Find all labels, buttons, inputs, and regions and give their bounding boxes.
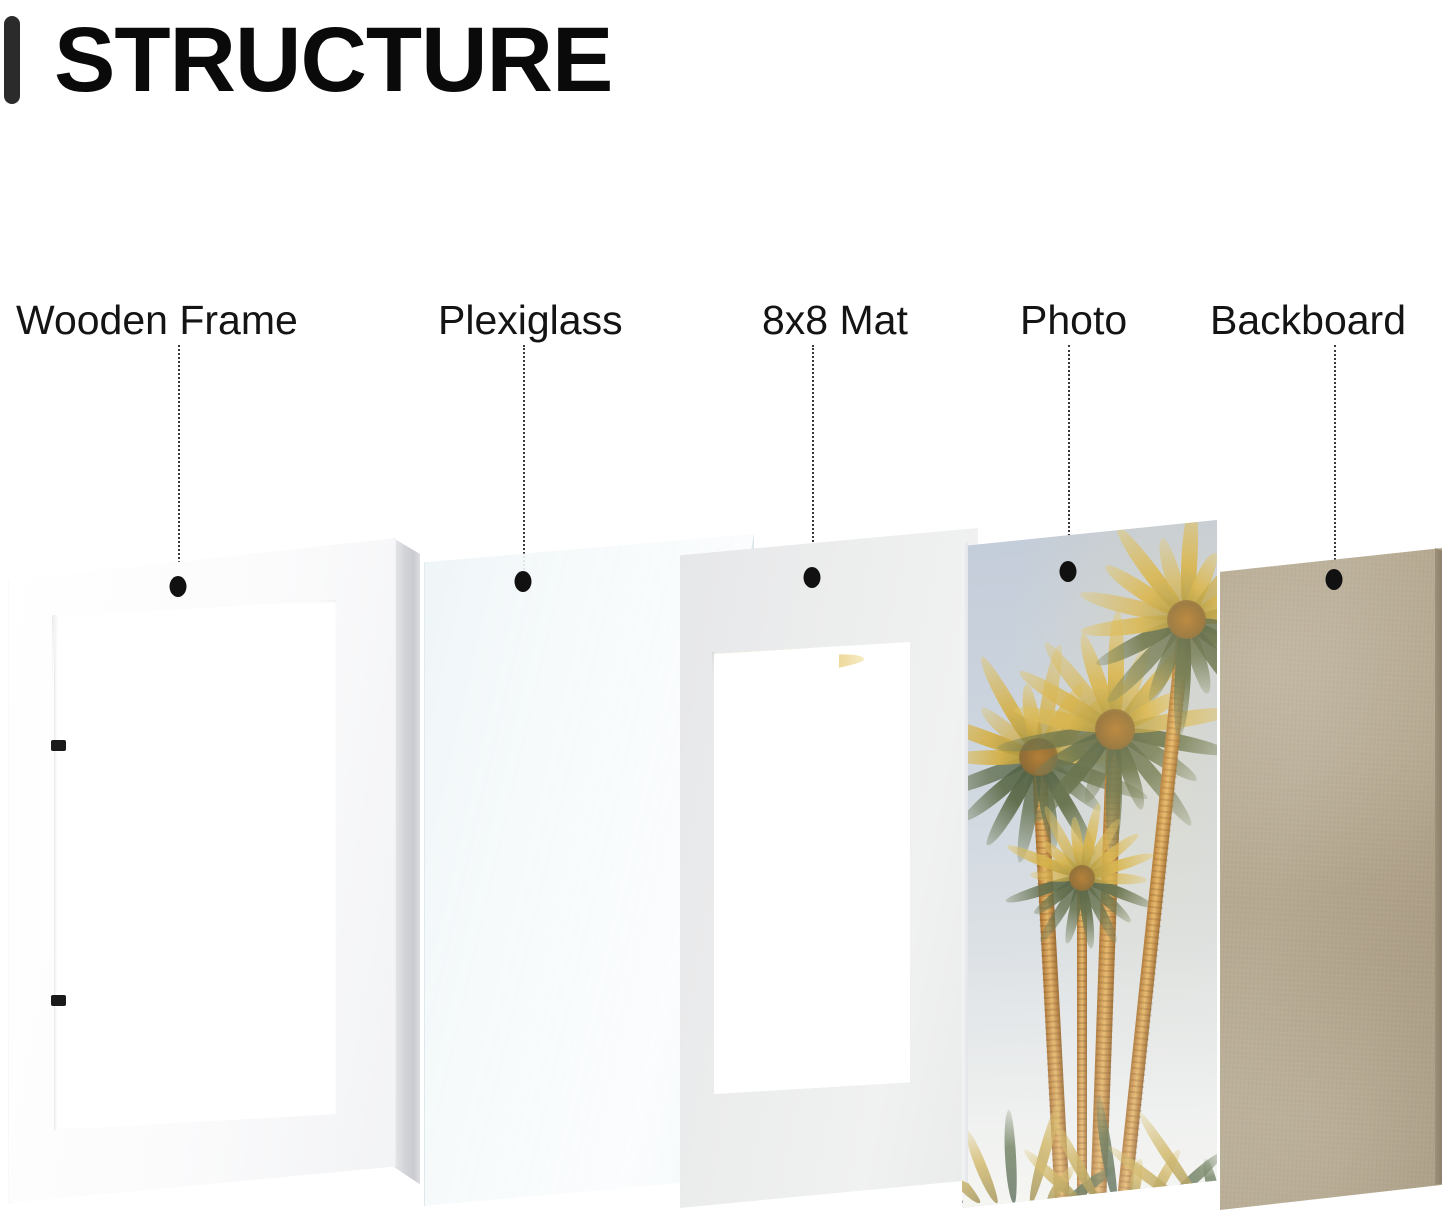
leader-dot-mat [804,567,821,588]
exploded-diagram [0,0,1445,1221]
leader-dot-wooden-frame [170,576,187,597]
leader-dot-photo [1060,561,1077,582]
frame-inner-bevel [52,598,340,1134]
layer-mat [680,528,978,1208]
leader-dot-backboard [1326,569,1343,590]
frame-clip-bottom [51,995,66,1006]
photo-edge [962,520,968,1208]
frame-clip-top [51,740,66,751]
layer-wooden-frame [8,538,420,1203]
leader-dot-plexiglass [515,571,532,592]
palm-crown [1167,600,1206,639]
palm-crown [1069,865,1096,892]
layer-photo [962,520,1217,1208]
mat-window [714,642,910,1094]
backboard-grain [1220,548,1442,1210]
backboard-edge [1435,548,1442,1210]
mat-window-overlap [714,642,839,1094]
frame-side-edge [393,538,420,1203]
photo-artwork [962,520,1217,1208]
layer-backboard [1220,548,1442,1210]
